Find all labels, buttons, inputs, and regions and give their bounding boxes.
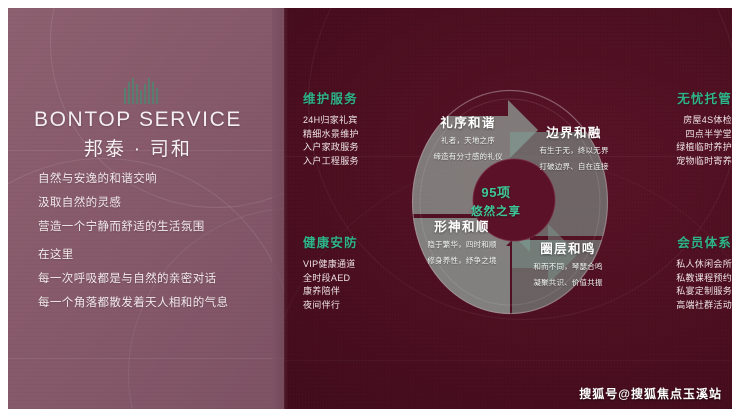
service-item: 高端社群活动 xyxy=(632,299,732,313)
page-margin-bottom xyxy=(0,409,740,416)
center-disc xyxy=(473,159,555,241)
service-group-title: 会员体系 xyxy=(632,232,732,251)
brand-name-en: BONTOP SERVICE xyxy=(0,108,276,132)
brand-line: 每一次呼吸都是与自然的亲密对话 xyxy=(38,272,268,287)
service-group-title: 无忧托管 xyxy=(632,88,732,107)
watermark: 搜狐号@搜狐焦点玉溪站 xyxy=(579,385,722,402)
panel-edge-gradient xyxy=(272,8,288,409)
brand-name-cn: 邦泰 · 司和 xyxy=(0,134,276,161)
service-group-health: 健康安防 VIP健康通道 全时段AED 康养陪伴 夜间伴行 xyxy=(303,232,407,312)
bamboo-bars-icon xyxy=(119,74,163,104)
service-item: 私宴定制服务 xyxy=(632,285,732,299)
page-margin-left xyxy=(0,0,8,416)
service-item: VIP健康通道 xyxy=(303,258,407,272)
service-item: 入户工程服务 xyxy=(303,155,407,169)
service-item: 精细水景维护 xyxy=(303,128,407,142)
brand-line: 营造一个宁静而舒适的生活氛围 xyxy=(38,220,268,235)
service-item-list: 房屋4S体检 四点半学堂 绿植临时养护 宠物临时寄养 xyxy=(632,114,732,168)
service-item: 私教课程预约 xyxy=(632,272,732,286)
brand-line: 汲取自然的灵感 xyxy=(38,196,268,211)
service-item: 全时段AED xyxy=(303,272,407,286)
decorative-divider xyxy=(270,360,740,361)
service-item: 房屋4S体检 xyxy=(632,114,732,128)
service-item: 宠物临时寄养 xyxy=(632,155,732,169)
service-item-list: 24H归家礼宾 精细水景维护 入户家政服务 入户工程服务 xyxy=(303,114,407,168)
page-margin-right xyxy=(732,0,740,416)
service-item: 绿植临时养护 xyxy=(632,141,732,155)
service-item: 夜间伴行 xyxy=(303,299,407,313)
service-item: 入户家政服务 xyxy=(303,141,407,155)
service-group-title: 健康安防 xyxy=(303,232,407,251)
decorative-divider xyxy=(8,358,284,359)
service-item: 24H归家礼宾 xyxy=(303,114,407,128)
service-group-maintenance: 维护服务 24H归家礼宾 精细水景维护 入户家政服务 入户工程服务 xyxy=(303,88,407,168)
brand-line: 在这里 xyxy=(38,248,268,263)
service-group-custody: 无忧托管 房屋4S体检 四点半学堂 绿植临时养护 宠物临时寄养 xyxy=(632,88,732,168)
pinwheel-diagram xyxy=(398,86,622,318)
slide-canvas: BONTOP SERVICE 邦泰 · 司和 自然与安逸的和谐交响 汲取自然的灵… xyxy=(0,0,740,416)
page-margin-top xyxy=(0,0,740,8)
brand-description: 自然与安逸的和谐交响 汲取自然的灵感 营造一个宁静而舒适的生活氛围 在这里 每一… xyxy=(38,172,268,320)
service-item: 四点半学堂 xyxy=(632,128,732,142)
service-item-list: 私人休闲会所 私教课程预约 私宴定制服务 高端社群活动 xyxy=(632,258,732,312)
brand-line: 自然与安逸的和谐交响 xyxy=(38,172,268,187)
service-item-list: VIP健康通道 全时段AED 康养陪伴 夜间伴行 xyxy=(303,258,407,312)
service-group-member: 会员体系 私人休闲会所 私教课程预约 私宴定制服务 高端社群活动 xyxy=(632,232,732,312)
service-group-title: 维护服务 xyxy=(303,88,407,107)
service-item: 私人休闲会所 xyxy=(632,258,732,272)
service-item: 康养陪伴 xyxy=(303,285,407,299)
brand-line: 每一个角落都散发着天人相和的气息 xyxy=(38,296,268,311)
